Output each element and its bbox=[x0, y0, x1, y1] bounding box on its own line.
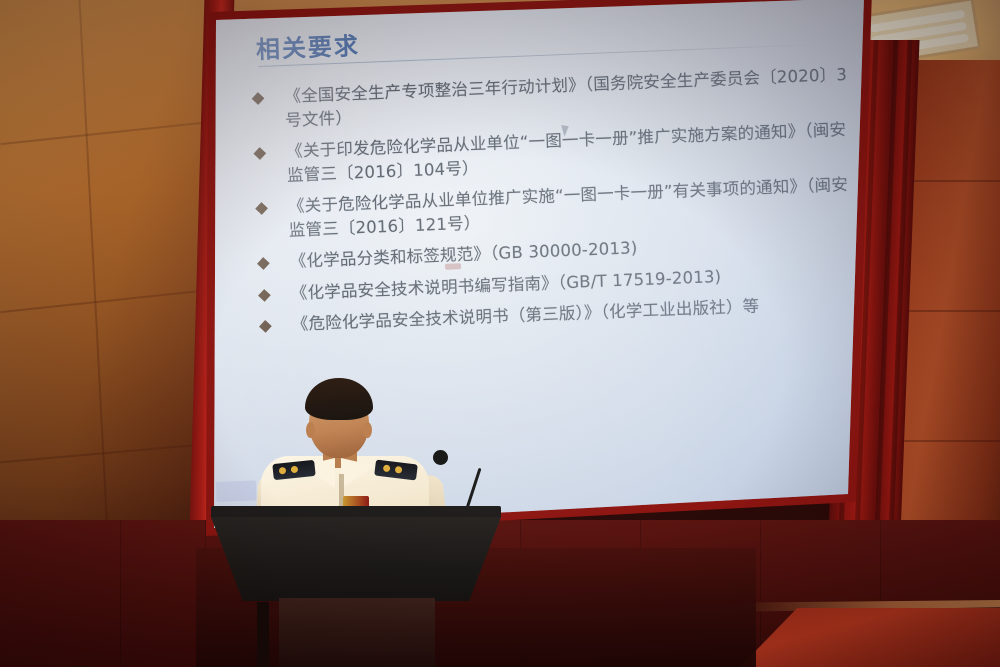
presentation-photo: 相关要求 《全国安全生产专项整治三年行动计划》（国务院安全生产委员会〔2020〕… bbox=[0, 0, 1000, 667]
podium-front-panel bbox=[211, 517, 501, 601]
podium-base bbox=[279, 598, 435, 667]
microphone-icon bbox=[433, 450, 448, 465]
bullet-diamond-icon bbox=[253, 147, 266, 160]
player-color-swatch bbox=[216, 480, 257, 502]
podium bbox=[211, 506, 501, 667]
slide-smudge bbox=[445, 263, 461, 270]
bullet-diamond-icon bbox=[257, 258, 270, 271]
bullet-diamond-icon bbox=[252, 92, 265, 105]
bullet-diamond-icon bbox=[255, 202, 268, 215]
bullet-diamond-icon bbox=[258, 289, 271, 302]
speaker-hair bbox=[305, 378, 373, 420]
bullet-diamond-icon bbox=[259, 320, 272, 333]
slide-title: 相关要求 bbox=[255, 26, 360, 65]
podium-leg bbox=[257, 602, 269, 667]
slide-bullet-list: 《全国安全生产专项整治三年行动计划》（国务院安全生产委员会〔2020〕3号文件）… bbox=[239, 62, 867, 345]
